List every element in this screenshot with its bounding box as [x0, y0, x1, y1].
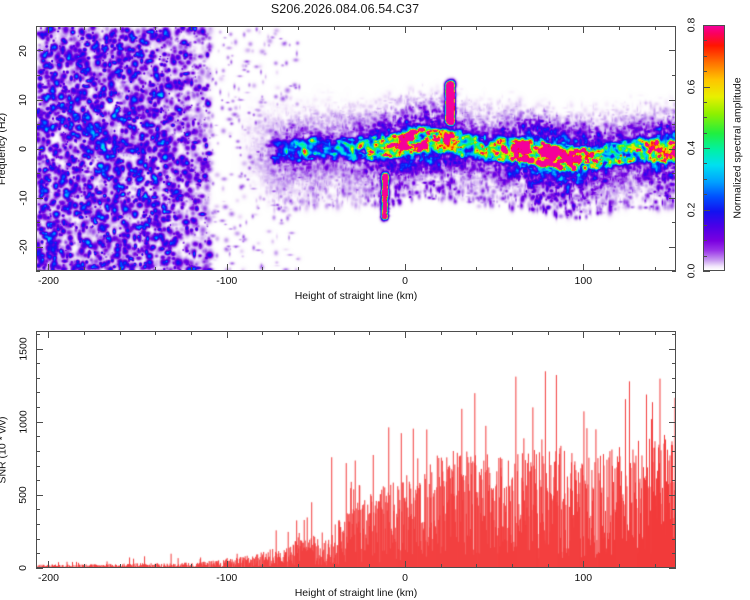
axis-tick — [36, 124, 40, 125]
axis-tick — [334, 267, 335, 271]
axis-tick — [672, 436, 676, 437]
axis-tick — [227, 561, 228, 568]
axis-tick — [672, 173, 676, 174]
axis-tick — [36, 149, 43, 150]
axis-tick — [672, 466, 676, 467]
colorbar-title: Normalized spectral amplitude — [731, 77, 743, 218]
axis-tick — [36, 247, 43, 248]
axis-tick — [672, 553, 676, 554]
figure-root: S206.2026.084.06.54.C37 -200-10001002010… — [0, 0, 750, 600]
colorbar-tick — [703, 71, 707, 72]
colorbar-tick — [703, 210, 710, 211]
colorbar-tick — [703, 102, 707, 103]
axis-tick — [672, 363, 676, 364]
x-tick-label: 0 — [402, 275, 408, 287]
axis-tick — [669, 349, 676, 350]
axis-tick — [334, 564, 335, 568]
axis-tick — [441, 267, 442, 271]
colorbar-ticks — [703, 25, 725, 271]
x-tick-label: 0 — [402, 572, 408, 584]
axis-tick — [48, 561, 49, 568]
axis-tick — [84, 564, 85, 568]
axis-tick — [36, 436, 40, 437]
axis-tick — [36, 173, 40, 174]
axis-tick — [476, 564, 477, 568]
axis-tick — [441, 331, 442, 335]
axis-tick — [405, 331, 406, 338]
axis-tick — [583, 26, 584, 33]
axis-tick — [84, 267, 85, 271]
axis-tick — [548, 564, 549, 568]
axis-tick — [512, 331, 513, 335]
axis-tick — [669, 198, 676, 199]
axis-tick — [369, 564, 370, 568]
axis-tick — [669, 568, 676, 569]
colorbar-tick-label: 0.8 — [685, 18, 697, 33]
axis-tick — [36, 50, 43, 51]
y-tick-label: 20 — [17, 45, 29, 57]
axis-tick — [120, 331, 121, 335]
y-tick-label: 10 — [17, 94, 29, 106]
axis-tick — [298, 331, 299, 335]
axis-tick — [512, 267, 513, 271]
axis-tick — [36, 349, 43, 350]
axis-tick — [672, 271, 676, 272]
axis-tick — [36, 334, 40, 335]
colorbar-tick — [703, 133, 707, 134]
axis-tick — [583, 264, 584, 271]
axis-tick — [36, 222, 40, 223]
axis-tick — [36, 198, 43, 199]
axis-tick — [669, 247, 676, 248]
axis-tick — [672, 407, 676, 408]
axis-tick — [672, 124, 676, 125]
spectrogram-canvas — [37, 27, 676, 271]
axis-tick — [36, 392, 40, 393]
axis-tick — [512, 26, 513, 30]
axis-tick — [548, 267, 549, 271]
axis-tick — [619, 267, 620, 271]
axis-tick — [120, 26, 121, 30]
axis-tick — [583, 561, 584, 568]
x-tick-label: 100 — [575, 572, 593, 584]
axis-tick — [369, 267, 370, 271]
colorbar-tick — [703, 117, 707, 118]
y-tick-label: 1500 — [17, 337, 29, 360]
axis-tick — [36, 407, 40, 408]
axis-tick — [672, 378, 676, 379]
colorbar-tick — [703, 256, 707, 257]
spectrogram-y-axis-title: Frequency (Hz) — [0, 112, 8, 184]
spectrogram-plot-area[interactable] — [36, 26, 676, 271]
axis-tick — [155, 267, 156, 271]
axis-tick — [36, 509, 40, 510]
axis-tick — [512, 564, 513, 568]
axis-tick — [36, 363, 40, 364]
colorbar-tick — [703, 163, 707, 164]
x-tick-label: -200 — [38, 572, 59, 584]
axis-tick — [405, 26, 406, 33]
axis-tick — [48, 331, 49, 338]
axis-tick — [36, 75, 40, 76]
colorbar-tick-label: 0.6 — [685, 79, 697, 94]
axis-tick — [672, 539, 676, 540]
axis-tick — [669, 100, 676, 101]
snr-y-axis-title: SNR (10 * v/v) — [0, 416, 8, 483]
axis-tick — [84, 26, 85, 30]
axis-tick — [48, 264, 49, 271]
axis-tick — [120, 564, 121, 568]
axis-tick — [669, 149, 676, 150]
axis-tick — [405, 561, 406, 568]
snr-x-axis-title: Height of straight line (km) — [295, 587, 418, 599]
axis-tick — [48, 26, 49, 33]
axis-tick — [619, 26, 620, 30]
axis-tick — [191, 26, 192, 30]
axis-tick — [476, 26, 477, 30]
axis-tick — [669, 422, 676, 423]
axis-tick — [655, 26, 656, 30]
x-tick-label: 100 — [575, 275, 593, 287]
axis-tick — [669, 50, 676, 51]
axis-tick — [476, 331, 477, 335]
axis-tick — [583, 331, 584, 338]
snr-canvas — [37, 332, 676, 568]
axis-tick — [227, 331, 228, 338]
snr-plot-area[interactable] — [36, 331, 676, 568]
figure-title: S206.2026.084.06.54.C37 — [0, 2, 690, 16]
axis-tick — [476, 267, 477, 271]
axis-tick — [36, 378, 40, 379]
y-tick-label: 0 — [17, 146, 29, 152]
axis-tick — [441, 26, 442, 30]
axis-tick — [369, 331, 370, 335]
axis-tick — [262, 331, 263, 335]
colorbar-tick-label: 0.2 — [685, 202, 697, 217]
spectrogram-x-axis-title: Height of straight line (km) — [295, 290, 418, 302]
axis-tick — [36, 26, 40, 27]
axis-tick — [298, 267, 299, 271]
axis-tick — [36, 539, 40, 540]
axis-tick — [669, 495, 676, 496]
axis-tick — [672, 524, 676, 525]
axis-tick — [441, 564, 442, 568]
axis-tick — [655, 564, 656, 568]
colorbar-tick-label: 0.0 — [685, 264, 697, 279]
axis-tick — [36, 271, 40, 272]
axis-tick — [36, 451, 40, 452]
colorbar-tick — [703, 56, 707, 57]
axis-tick — [191, 564, 192, 568]
axis-tick — [262, 564, 263, 568]
colorbar-tick — [703, 240, 707, 241]
axis-tick — [36, 495, 43, 496]
axis-tick — [405, 264, 406, 271]
x-tick-label: -100 — [216, 572, 237, 584]
axis-tick — [655, 331, 656, 335]
axis-tick — [672, 451, 676, 452]
colorbar-tick — [703, 40, 707, 41]
axis-tick — [36, 480, 40, 481]
axis-tick — [619, 564, 620, 568]
colorbar-tick — [703, 148, 710, 149]
axis-tick — [334, 26, 335, 30]
axis-tick — [672, 26, 676, 27]
axis-tick — [227, 26, 228, 33]
colorbar-tick — [703, 25, 710, 26]
y-tick-label: 500 — [17, 486, 29, 504]
colorbar-tick — [703, 87, 710, 88]
colorbar-tick — [703, 271, 710, 272]
axis-tick — [36, 466, 40, 467]
y-tick-label: -20 — [17, 239, 29, 254]
axis-tick — [672, 509, 676, 510]
axis-tick — [155, 26, 156, 30]
axis-tick — [548, 26, 549, 30]
axis-tick — [298, 26, 299, 30]
y-tick-label: 1000 — [17, 410, 29, 433]
axis-tick — [155, 331, 156, 335]
axis-tick — [191, 267, 192, 271]
axis-tick — [672, 75, 676, 76]
y-tick-label: 0 — [17, 565, 29, 571]
axis-tick — [334, 331, 335, 335]
colorbar-tick — [703, 225, 707, 226]
axis-tick — [619, 331, 620, 335]
axis-tick — [191, 331, 192, 335]
axis-tick — [36, 553, 40, 554]
axis-tick — [155, 564, 156, 568]
axis-tick — [36, 524, 40, 525]
axis-tick — [655, 267, 656, 271]
y-tick-label: -10 — [17, 190, 29, 205]
axis-tick — [672, 392, 676, 393]
axis-tick — [548, 331, 549, 335]
axis-tick — [262, 26, 263, 30]
colorbar-tick — [703, 194, 707, 195]
axis-tick — [262, 267, 263, 271]
colorbar-tick — [703, 179, 707, 180]
axis-tick — [227, 264, 228, 271]
axis-tick — [369, 26, 370, 30]
axis-tick — [672, 222, 676, 223]
axis-tick — [36, 422, 43, 423]
x-tick-label: -100 — [216, 275, 237, 287]
axis-tick — [36, 100, 43, 101]
axis-tick — [120, 267, 121, 271]
x-tick-label: -200 — [38, 275, 59, 287]
axis-tick — [36, 568, 43, 569]
colorbar-tick-label: 0.4 — [685, 141, 697, 156]
axis-tick — [298, 564, 299, 568]
axis-tick — [672, 334, 676, 335]
axis-tick — [672, 480, 676, 481]
axis-tick — [84, 331, 85, 335]
